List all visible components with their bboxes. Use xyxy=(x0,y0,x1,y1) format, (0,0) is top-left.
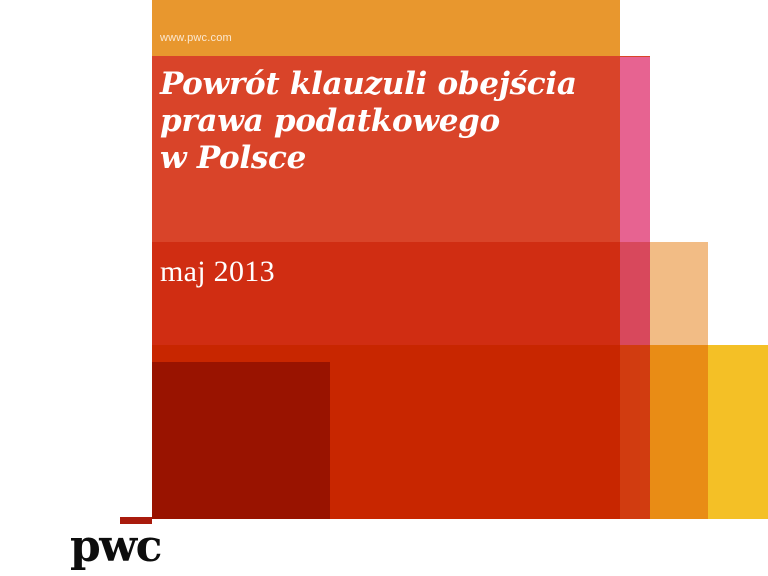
site-url-text: www.pwc.com xyxy=(160,31,232,45)
orange-block-decoration xyxy=(650,345,708,519)
page-title-line-3: w Polsce xyxy=(160,140,630,177)
publication-date: maj 2013 xyxy=(160,254,275,290)
page-title-line-1: Powrót klauzuli obejścia xyxy=(160,66,630,103)
pink-over-dark-red-decoration xyxy=(620,345,650,519)
page-title-line-2: prawa podatkowego xyxy=(160,103,630,140)
peach-block-decoration xyxy=(650,242,708,345)
orange-top-band-decoration xyxy=(152,0,620,56)
yellow-block-decoration xyxy=(708,345,768,519)
page-title: Powrót klauzuli obejścia prawa podatkowe… xyxy=(160,66,630,177)
pwc-logo: pwc xyxy=(70,512,190,568)
maroon-block-decoration xyxy=(152,362,330,519)
pink-over-red-decoration xyxy=(620,242,650,345)
pwc-wordmark: pwc xyxy=(70,525,161,569)
presentation-cover-slide: www.pwc.com Powrót klauzuli obejścia pra… xyxy=(0,0,768,576)
